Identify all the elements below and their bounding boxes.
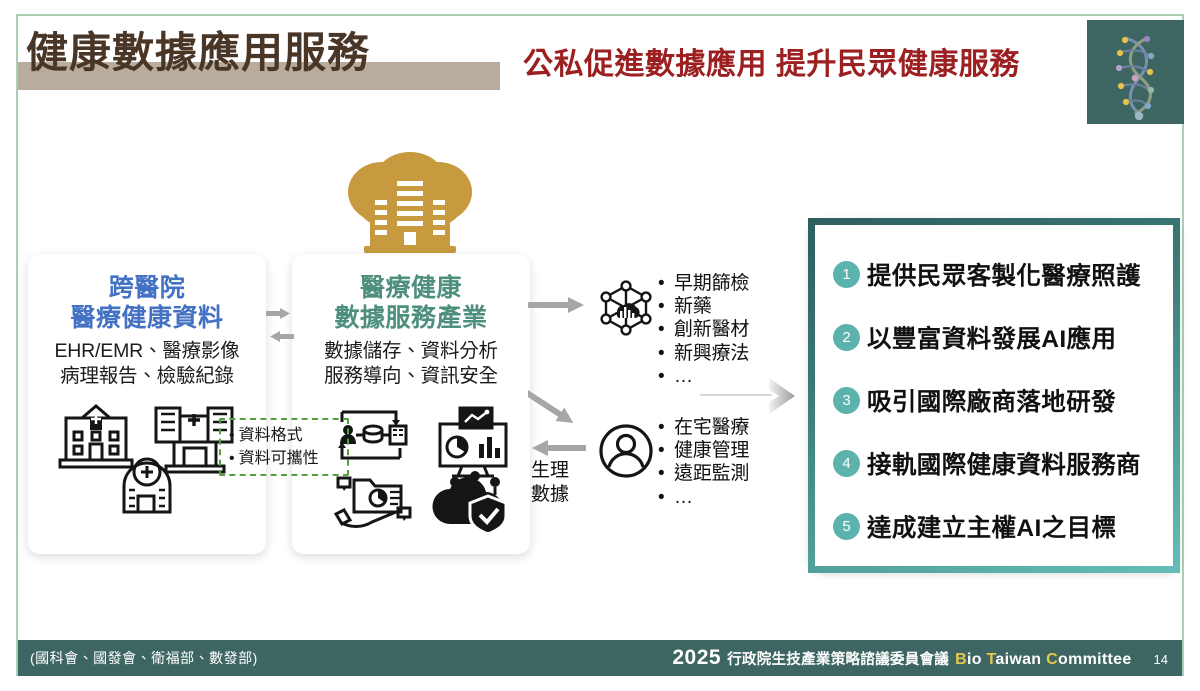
footer-agencies: (國科會、國發會、衛福部、數發部) [30,648,258,668]
list-item: 新藥 [660,295,749,318]
card-left-title-line2: 醫療健康資料 [28,304,266,334]
note-item-portability: 資料可攜性 [229,447,341,470]
data-in-hand-icon [336,478,410,527]
goal-item-1: 1 提供民眾客製化醫療照護 [833,243,1159,306]
goal-number-badge: 1 [833,261,860,288]
arrow-physio-feedback-icon [532,440,586,456]
physiological-data-label: 生理 數據 [531,459,569,507]
list-item: 創新醫材 [660,318,749,341]
goal-item-2: 2 以豐富資料發展AI應用 [833,306,1159,369]
arrow-to-consumer-icon [528,386,578,430]
footer-page-number: 14 [1154,652,1168,667]
slide-footer: (國科會、國發會、衛福部、數發部) 2025 行政院生技產業策略諮議委員會議 B… [18,640,1182,676]
arrow-right-icon [266,308,290,319]
analytics-dashboard-icon [440,408,506,476]
card-left-sub-line1: EHR/EMR、醫療影像 [28,339,266,364]
person-circle-icon [598,422,654,485]
goal-text: 接軌國際健康資料服務商 [867,446,1141,481]
goals-panel-inner: 1 提供民眾客製化醫療照護 2 以豐富資料發展AI應用 3 吸引國際廠商落地研發… [815,225,1173,566]
card-cross-hospital-data: 跨醫院 醫療健康資料 EHR/EMR、醫療影像 病理報告、檢驗紀錄 [28,254,266,554]
card-mid-sub-line1: 數據儲存、資料分析 [292,339,530,364]
molecule-network-icon [598,278,654,343]
slide-root: 健康數據應用服務 公私促進數據應用 提升民眾健康服務 [0,0,1200,691]
page-title: 健康數據應用服務 [26,32,370,74]
footer-brand: 2025 行政院生技產業策略諮議委員會議 Bio Taiwan Committe… [672,646,1168,670]
list-item: 新興療法 [660,342,749,365]
data-standard-note: 資料格式 資料可攜性 [219,418,349,476]
goal-item-4: 4 接軌國際健康資料服務商 [833,432,1159,495]
page-subtitle: 公私促進數據應用 提升民眾健康服務 [523,50,1020,80]
goal-text: 提供民眾客製化醫療照護 [867,257,1141,292]
goal-number-badge: 5 [833,513,860,540]
card-left-sub-line2: 病理報告、檢驗紀錄 [28,364,266,389]
goal-item-5: 5 達成建立主權AI之目標 [833,495,1159,558]
dna-taiwan-icon [1087,20,1184,124]
footer-en-name: Bio Taiwan Committee [955,651,1131,669]
list-item: 遠距監測 [660,462,749,485]
connector-line [700,394,772,396]
card-left-title: 跨醫院 醫療健康資料 [28,274,266,333]
outcome-consumer-list: 在宅醫療 健康管理 遠距監測 … [660,416,749,509]
dna-taiwan-glyph [1087,20,1184,124]
footer-year: 2025 [672,646,721,670]
physio-label-line2: 數據 [531,483,569,507]
card-health-data-industry: 醫療健康 數據服務產業 數據儲存、資料分析 服務導向、資訊安全 [292,254,530,554]
goal-number-badge: 3 [833,387,860,414]
card-mid-sub-line2: 服務導向、資訊安全 [292,364,530,389]
card-left-subtitle: EHR/EMR、醫療影像 病理報告、檢驗紀錄 [28,339,266,389]
cloud-building-icon [330,150,490,268]
list-item: 早期篩檢 [660,272,749,295]
list-item: … [660,486,749,509]
list-item: 在宅醫療 [660,416,749,439]
card-left-title-line1: 跨醫院 [28,274,266,304]
card-mid-title: 醫療健康 數據服務產業 [292,274,530,333]
goal-number-badge: 2 [833,324,860,351]
goal-text: 達成建立主權AI之目標 [867,509,1116,544]
arrow-to-research-icon [528,297,584,313]
arrow-left-icon [270,331,294,342]
goals-panel: 1 提供民眾客製化醫療照護 2 以豐富資料發展AI應用 3 吸引國際廠商落地研發… [808,218,1180,573]
card-mid-title-line1: 醫療健康 [292,274,530,304]
goal-number-badge: 4 [833,450,860,477]
card-mid-title-line2: 數據服務產業 [292,304,530,334]
note-item-format: 資料格式 [229,424,341,447]
hospital-icon-1 [60,406,132,467]
card-mid-subtitle: 數據儲存、資料分析 服務導向、資訊安全 [292,339,530,389]
footer-org-name: 行政院生技產業策略諮議委員會議 [727,648,949,669]
bidirectional-arrow-left-mid [266,305,294,347]
goal-text: 吸引國際廠商落地研發 [867,383,1116,418]
list-item: … [660,365,749,388]
physio-label-line1: 生理 [531,459,569,483]
goal-item-3: 3 吸引國際廠商落地研發 [833,369,1159,432]
goal-text: 以豐富資料發展AI應用 [867,320,1116,355]
list-item: 健康管理 [660,439,749,462]
cloud-security-icon [433,471,507,532]
outcome-research-list: 早期篩檢 新藥 創新醫材 新興療法 … [660,272,749,388]
